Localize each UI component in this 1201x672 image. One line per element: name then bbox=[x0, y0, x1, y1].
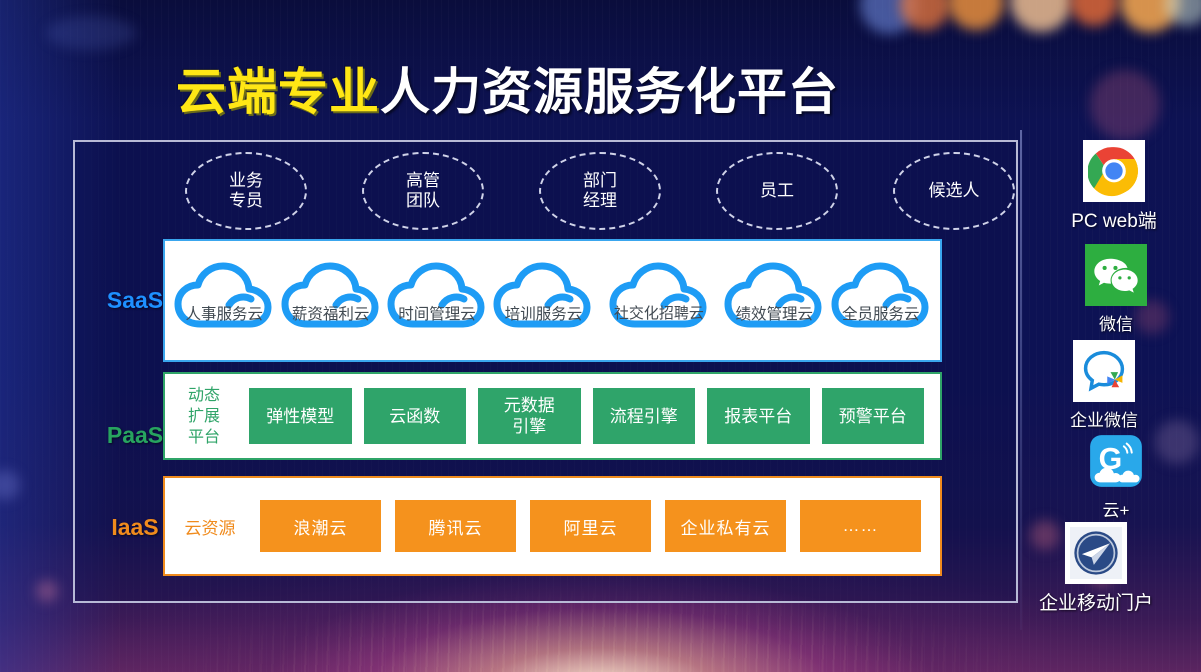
iaas-panel: 云资源 浪潮云 腾讯云 阿里云 企业私有云 …… bbox=[163, 476, 942, 576]
roles-row: 业务 专员 高管 团队 部门 经理 员工 候选人 bbox=[185, 150, 1015, 232]
saas-item-6[interactable]: 全员服务云 bbox=[829, 258, 933, 344]
saas-item-3[interactable]: 培训服务云 bbox=[491, 258, 595, 344]
iaas-box-label: 腾讯云 bbox=[429, 514, 483, 539]
paper-plane-icon bbox=[1065, 522, 1127, 584]
saas-item-label: 人事服务云 bbox=[172, 302, 276, 324]
paas-box-label: 流程引擎 bbox=[610, 406, 678, 427]
saas-item-5[interactable]: 绩效管理云 bbox=[722, 258, 826, 344]
sidebar-item-label: 微信 bbox=[1099, 310, 1133, 335]
iaas-items: 云资源 浪潮云 腾讯云 阿里云 企业私有云 …… bbox=[165, 478, 940, 574]
iaas-box-2[interactable]: 阿里云 bbox=[530, 500, 651, 552]
role-label-line1: 部门 bbox=[583, 171, 617, 191]
role-label-line2: 专员 bbox=[229, 191, 263, 211]
page-title-highlight: 云端专业 bbox=[176, 64, 380, 120]
saas-items: 人事服务云 薪资福利云 时间管理云 培训服务云 bbox=[165, 241, 940, 360]
wework-icon bbox=[1073, 340, 1135, 402]
iaas-box-label: 阿里云 bbox=[564, 514, 618, 539]
bokeh-light bbox=[1090, 70, 1160, 140]
paas-box-label: 预警平台 bbox=[839, 406, 907, 427]
bokeh-light bbox=[46, 16, 136, 50]
sidebar-item-mobile-portal[interactable]: 企业移动门户 bbox=[1030, 522, 1162, 615]
iaas-box-label: 企业私有云 bbox=[681, 514, 771, 539]
iaas-box-label: 浪潮云 bbox=[294, 514, 348, 539]
paas-box-1[interactable]: 云函数 bbox=[364, 388, 467, 444]
paas-box-label: 报表平台 bbox=[724, 406, 792, 427]
saas-item-0[interactable]: 人事服务云 bbox=[172, 258, 276, 344]
sidebar-item-label: 企业移动门户 bbox=[1039, 588, 1153, 615]
paas-box-2[interactable]: 元数据 引擎 bbox=[478, 388, 581, 444]
role-label-line1: 候选人 bbox=[929, 181, 980, 201]
paas-box-4[interactable]: 报表平台 bbox=[707, 388, 810, 444]
wechat-icon bbox=[1085, 244, 1147, 306]
yunplus-icon: G bbox=[1085, 430, 1147, 492]
paas-lead-line1: 动态 bbox=[173, 385, 235, 406]
paas-box-label-line1: 元数据 bbox=[504, 395, 555, 416]
paas-box-3[interactable]: 流程引擎 bbox=[593, 388, 696, 444]
saas-item-label: 培训服务云 bbox=[491, 302, 595, 324]
chrome-icon bbox=[1083, 140, 1145, 202]
page-title: 云端专业人力资源服务化平台 bbox=[0, 52, 1015, 124]
role-bubble-1[interactable]: 高管 团队 bbox=[362, 152, 484, 230]
architecture-frame: 业务 专员 高管 团队 部门 经理 员工 候选人 SaaS PaaS IaaS … bbox=[73, 140, 1018, 603]
paas-box-5[interactable]: 预警平台 bbox=[822, 388, 925, 444]
saas-item-label: 薪资福利云 bbox=[279, 302, 383, 324]
paas-box-label-line2: 引擎 bbox=[504, 416, 555, 437]
role-label-line2: 经理 bbox=[583, 191, 617, 211]
paas-panel: 动态 扩展 平台 弹性模型 云函数 元数据 引擎 流程引擎 报表平台 预警平台 bbox=[163, 372, 942, 460]
role-bubble-0[interactable]: 业务 专员 bbox=[185, 152, 307, 230]
sidebar-item-label: 云+ bbox=[1103, 496, 1130, 521]
page-title-rest: 人力资源服务化平台 bbox=[380, 64, 839, 120]
iaas-lead-label: 云资源 bbox=[173, 514, 247, 539]
role-bubble-2[interactable]: 部门 经理 bbox=[539, 152, 661, 230]
paas-lead-label: 动态 扩展 平台 bbox=[173, 385, 235, 448]
iaas-box-3[interactable]: 企业私有云 bbox=[665, 500, 786, 552]
sidebar-item-pc-web[interactable]: PC web端 bbox=[1048, 140, 1180, 233]
iaas-box-0[interactable]: 浪潮云 bbox=[260, 500, 381, 552]
sidebar-item-yunplus[interactable]: G 云+ bbox=[1050, 430, 1182, 521]
sidebar-item-label: PC web端 bbox=[1071, 206, 1157, 233]
role-label-line1: 业务 bbox=[229, 171, 263, 191]
role-label-line2: 团队 bbox=[406, 191, 440, 211]
sidebar-item-label: 企业微信 bbox=[1070, 406, 1138, 431]
paas-items: 动态 扩展 平台 弹性模型 云函数 元数据 引擎 流程引擎 报表平台 预警平台 bbox=[165, 374, 940, 458]
sidebar-item-wework[interactable]: 企业微信 bbox=[1038, 340, 1170, 431]
saas-item-label: 社交化招聘云 bbox=[598, 302, 720, 323]
role-label-line1: 高管 bbox=[406, 171, 440, 191]
paas-box-0[interactable]: 弹性模型 bbox=[249, 388, 352, 444]
client-channel-sidebar: PC web端 微信 bbox=[1026, 140, 1201, 610]
role-bubble-4[interactable]: 候选人 bbox=[893, 152, 1015, 230]
saas-item-label: 绩效管理云 bbox=[722, 302, 826, 324]
iaas-box-label: …… bbox=[843, 516, 879, 536]
iaas-box-4[interactable]: …… bbox=[800, 500, 921, 552]
paas-box-label: 云函数 bbox=[389, 406, 440, 427]
saas-item-label: 时间管理云 bbox=[385, 302, 489, 324]
paas-lead-line3: 平台 bbox=[173, 427, 235, 448]
role-bubble-3[interactable]: 员工 bbox=[716, 152, 838, 230]
iaas-box-1[interactable]: 腾讯云 bbox=[395, 500, 516, 552]
saas-panel: 人事服务云 薪资福利云 时间管理云 培训服务云 bbox=[163, 239, 942, 362]
saas-item-4[interactable]: 社交化招聘云 bbox=[598, 258, 720, 344]
paas-lead-line2: 扩展 bbox=[173, 406, 235, 427]
sidebar-divider bbox=[1020, 130, 1022, 630]
paas-box-label: 弹性模型 bbox=[266, 406, 334, 427]
saas-item-label: 全员服务云 bbox=[829, 302, 933, 324]
role-label-line1: 员工 bbox=[760, 181, 794, 201]
saas-item-2[interactable]: 时间管理云 bbox=[385, 258, 489, 344]
saas-item-1[interactable]: 薪资福利云 bbox=[279, 258, 383, 344]
sidebar-item-wechat[interactable]: 微信 bbox=[1050, 244, 1182, 335]
